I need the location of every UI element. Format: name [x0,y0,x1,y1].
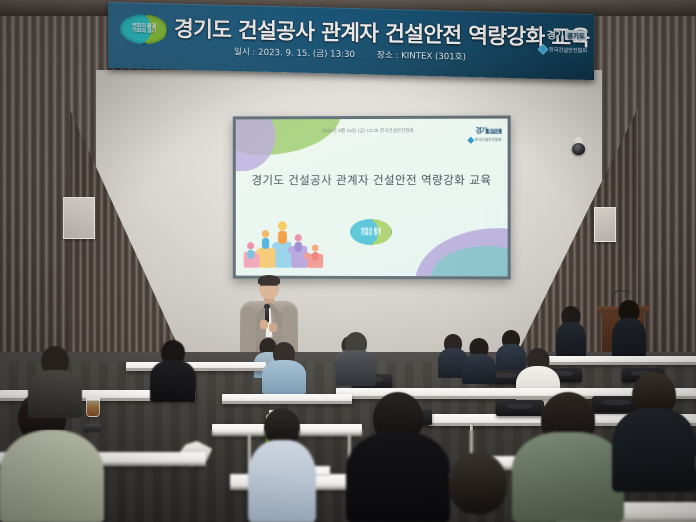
gg-name: 경기도 [565,29,587,39]
slide-org-logo: 한국건설안전협회 [468,138,501,143]
list-item [248,408,316,522]
slide-logos: 경기경기도 한국건설안전협회 [468,126,501,143]
list-item [612,372,696,492]
list-item [262,342,306,394]
table-row [540,356,696,365]
attendee-body [336,350,376,386]
slide-kicker-row: 2023년 9월 15일 (금) 13:30 한국건설안전협회 [236,128,502,135]
banner-date: 일시 : 2023. 9. 15. (금) 13:30 [234,45,355,60]
table-row [222,394,352,404]
attendee-body [462,354,496,384]
gyeonggi-do-logo: 경기 경기도 [547,26,587,42]
event-banner: 변화의 물결 기회의 경기 경기도 건설공사 관계자 건설안전 역량강화 교육 … [108,2,594,80]
list-item [336,332,376,386]
list-item [28,346,82,418]
slide-gg-mark: 경기 [475,128,486,135]
attendee-body [150,360,196,402]
partner-organization-logo: 한국건설안전협회 [539,45,587,54]
banner-sponsor-logos: 경기 경기도 한국건설안전협회 [539,26,587,54]
list-item [462,338,496,384]
list-item [150,340,196,402]
presentation-slide: 2023년 9월 15일 (금) 13:30 한국건설안전협회 경기경기도 한국… [236,119,508,277]
wall-panel-right [594,207,616,242]
slide-circle-logo: 변화의 물결 기회의 경기 [350,219,392,245]
attendee-body [248,440,316,522]
security-camera-icon [571,137,586,157]
puzzle-people-illustration [242,212,345,272]
gyeonggi-slogan-logo: 변화의 물결 기회의 경기 [120,14,168,45]
list-item [556,306,586,358]
slogan-line-2: 기회의 경기 [132,29,156,35]
banner-place: 장소 : KINTEX (301호) [377,49,466,63]
slide-org-name: 한국건설안전협회 [475,138,502,143]
list-item [512,392,624,522]
seminar-photograph: 변화의 물결 기회의 경기 경기도 건설공사 관계자 건설안전 역량강화 교육 … [0,0,696,522]
slide-gg-name: 경기도 [486,129,501,134]
attendee-body [612,408,696,492]
avatar [449,452,507,514]
slide-kicker: 2023년 9월 15일 (금) 13:30 한국건설안전협회 [322,128,414,134]
list-item [612,300,646,362]
gg-mark: 경기 [547,26,563,41]
attendee-body [262,360,306,394]
projection-screen: 2023년 9월 15일 (금) 13:30 한국건설안전협회 경기경기도 한국… [233,116,511,280]
attendee-body [556,322,586,358]
diamond-icon [537,44,548,55]
attendee-body [512,432,624,522]
org-name: 한국건설안전협회 [549,45,587,54]
table-row [126,362,266,371]
slide-slogan-line-2: 기회의 경기 [361,232,381,236]
slide-purple-blob-top [236,119,276,172]
slide-gg-logo: 경기경기도 [468,126,501,136]
attendee-body [0,430,104,522]
attendee-body [28,370,82,418]
wall-panel-left [63,197,95,239]
slide-title: 경기도 건설공사 관계자 건설안전 역량강화 교육 [236,172,508,188]
slide-diamond-icon [467,137,474,144]
